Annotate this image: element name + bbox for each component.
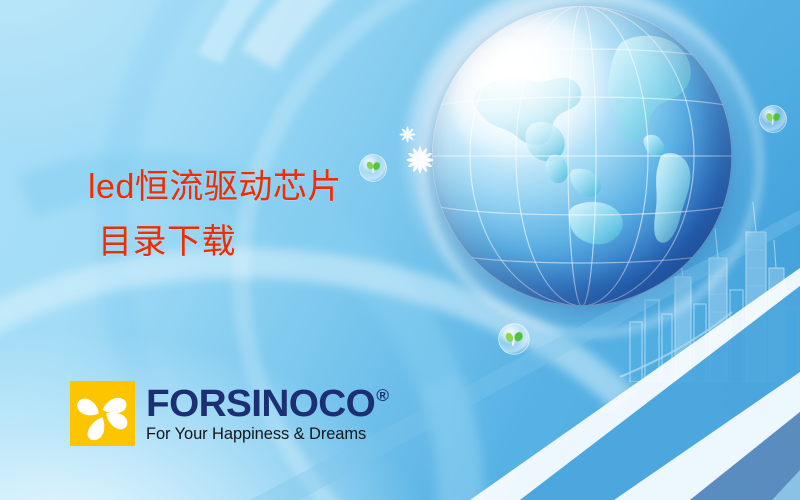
globe-earth-icon [432, 6, 732, 306]
ribbon-white-band [614, 372, 800, 500]
pinwheel-flower-icon [70, 381, 135, 446]
logo-tagline: For Your Happiness & Dreams [146, 426, 384, 443]
registered-trademark-icon: ® [376, 387, 388, 404]
logo-wordmark: FORSINOCO ® [146, 385, 388, 423]
ribbon-slate-band [690, 412, 800, 500]
logo-wordmark-text: FORSINOCO [146, 385, 375, 423]
company-logo[interactable]: FORSINOCO ® For Your Happiness & Dreams [70, 381, 384, 446]
promo-banner: led恒流驱动芯片 目录下载 FORSINOCO ® For Your Happ… [0, 0, 800, 500]
bubble-sprout-icon [497, 322, 531, 356]
headline-text: led恒流驱动芯片 目录下载 [72, 160, 342, 270]
bubble-sprout-icon [758, 104, 788, 134]
headline-line-2: 目录下载 [72, 215, 342, 270]
headline-line-1: led恒流驱动芯片 [72, 160, 342, 215]
globe-halo-ring [418, 0, 764, 338]
logo-text-block: FORSINOCO ® For Your Happiness & Dreams [146, 385, 384, 443]
bubble-sprout-icon [358, 153, 388, 183]
ribbon-corner-tip [772, 470, 800, 500]
